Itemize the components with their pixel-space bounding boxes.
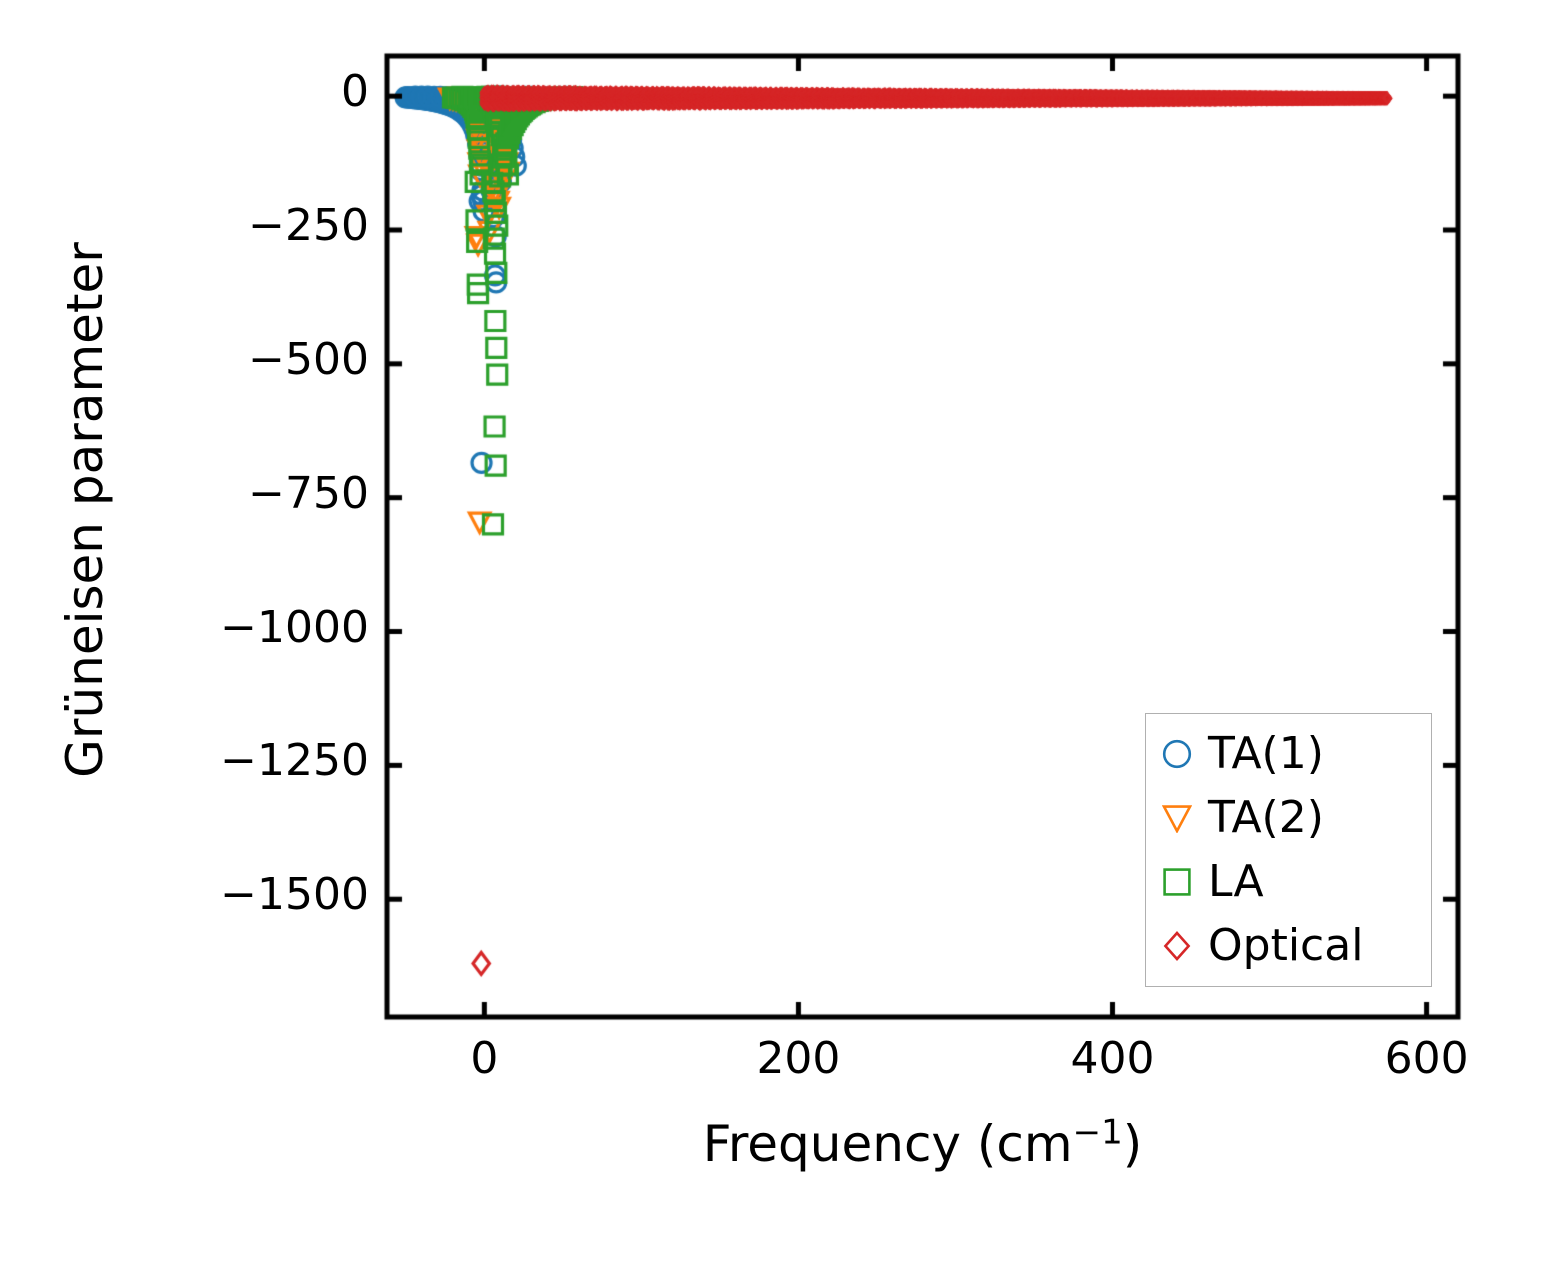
x-tick-label: 400 bbox=[1013, 1037, 1213, 1081]
triangle-down-icon bbox=[1154, 803, 1200, 833]
square-icon bbox=[1154, 867, 1200, 897]
legend-entry-ta2[interactable]: TA(2) bbox=[1154, 787, 1421, 849]
legend-label: TA(1) bbox=[1200, 732, 1324, 776]
legend-label: Optical bbox=[1200, 924, 1363, 968]
x-tick-label: 600 bbox=[1327, 1037, 1527, 1081]
x-axis-title-tail: ) bbox=[1123, 1115, 1143, 1173]
figure-canvas-container: 0−250−500−750−1000−1250−1500 0200400600 … bbox=[0, 0, 1566, 1264]
circle-icon bbox=[1154, 739, 1200, 769]
y-tick-label: −500 bbox=[248, 338, 369, 382]
y-tick-label: −250 bbox=[248, 204, 369, 248]
x-tick-label: 200 bbox=[698, 1037, 898, 1081]
x-axis-title: Frequency (cm−1) bbox=[387, 1118, 1458, 1171]
legend-entry-ta1[interactable]: TA(1) bbox=[1154, 723, 1421, 785]
y-tick-label: 0 bbox=[341, 70, 369, 114]
legend-entry-optical[interactable]: Optical bbox=[1154, 915, 1421, 977]
legend-box[interactable]: TA(1)TA(2)LAOptical bbox=[1145, 713, 1432, 987]
legend-entry-la[interactable]: LA bbox=[1154, 851, 1421, 913]
diamond-icon bbox=[1154, 931, 1200, 961]
y-tick-label: −750 bbox=[248, 472, 369, 516]
legend-label: TA(2) bbox=[1200, 796, 1324, 840]
y-tick-label: −1250 bbox=[220, 739, 369, 783]
x-axis-title-main: Frequency (cm bbox=[703, 1115, 1073, 1173]
x-tick-label: 0 bbox=[384, 1037, 584, 1081]
y-tick-label: −1500 bbox=[220, 873, 369, 917]
legend-label: LA bbox=[1200, 860, 1264, 904]
y-tick-label: −1000 bbox=[220, 606, 369, 650]
x-axis-title-exponent: −1 bbox=[1073, 1112, 1123, 1152]
